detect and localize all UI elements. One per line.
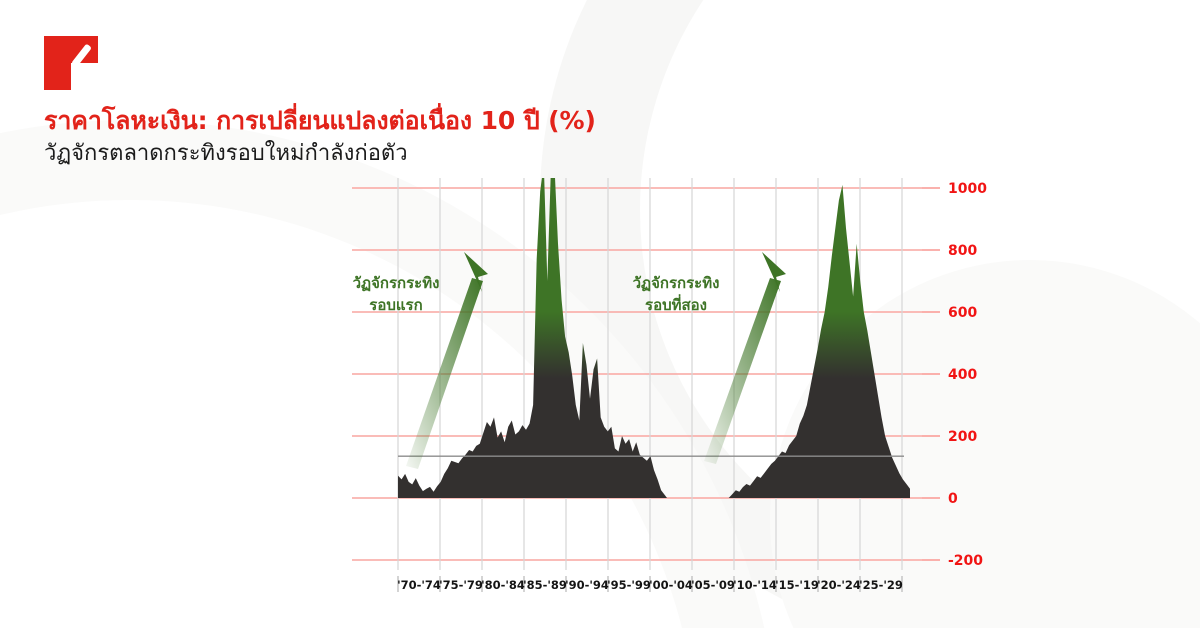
annotation-1-line-1: วัฏจักรกระทิง [353, 274, 440, 292]
xtick-label-7: '05-'09 [691, 578, 735, 592]
header: ราคาโลหะเงิน: การเปลี่ยนแปลงต่อเนื่อง 10… [44, 36, 596, 167]
series-group [398, 178, 910, 534]
ytick-label-400: 400 [948, 367, 977, 383]
xtick-label-6: '00-'04 [649, 578, 693, 592]
chart-container: 1000 800 600 400 200 0 -200 '70-'74'75-'… [352, 178, 952, 578]
annotation-2-line-2: รอบที่สอง [645, 294, 707, 314]
xtick-label-5: '95-'99 [607, 578, 651, 592]
xtick-label-4: '90-'94 [565, 578, 609, 592]
brand-logo-icon [44, 36, 98, 90]
page-subtitle: วัฏจักรตลาดกระทิงรอบใหม่กำลังก่อตัว [44, 140, 596, 168]
ytick-label-0: 0 [948, 491, 958, 507]
ytick-label-200: 200 [948, 429, 977, 445]
xtick-label-3: '85-'89 [523, 578, 567, 592]
annotation-1-line-2: รอบแรก [369, 296, 422, 314]
xtick-label-10: '20-'24 [817, 578, 861, 592]
x-axis-ticks: '70-'74'75-'79'80-'84'85-'89'90-'94'95-'… [397, 576, 903, 592]
ytick-label-600: 600 [948, 305, 977, 321]
annotation-2-line-1: วัฏจักรกระทิง [633, 274, 720, 292]
y-axis-ticks: 1000 800 600 400 200 0 -200 [922, 181, 987, 569]
rolling-change-area-chart: 1000 800 600 400 200 0 -200 '70-'74'75-'… [352, 178, 992, 598]
xtick-label-8: '10-'14 [733, 578, 777, 592]
xtick-label-1: '75-'79 [439, 578, 483, 592]
ytick-label-1000: 1000 [948, 181, 987, 197]
annotation-first-bull-cycle: วัฏจักรกระทิง รอบแรก [353, 274, 440, 314]
ytick-label--200: -200 [948, 553, 983, 569]
series-area-silver-10y-change [398, 178, 910, 534]
xtick-label-2: '80-'84 [481, 578, 525, 592]
annotation-second-bull-cycle: วัฏจักรกระทิง รอบที่สอง [633, 274, 720, 314]
ytick-label-800: 800 [948, 243, 977, 259]
xtick-label-0: '70-'74 [397, 578, 441, 592]
xtick-label-9: '15-'19 [775, 578, 819, 592]
page-title: ราคาโลหะเงิน: การเปลี่ยนแปลงต่อเนื่อง 10… [44, 106, 596, 137]
xtick-label-11: '25-'29 [859, 578, 903, 592]
